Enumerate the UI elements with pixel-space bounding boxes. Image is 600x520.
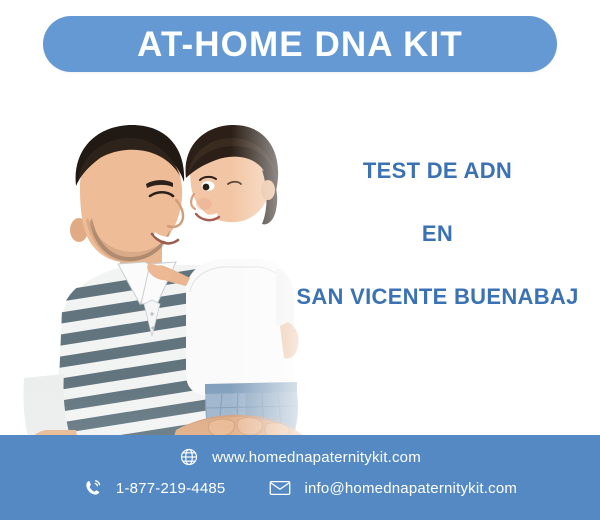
headline-line-2: EN [285, 223, 590, 245]
title-banner: AT-HOME DNA KIT [43, 16, 557, 72]
poster-root: AT-HOME DNA KIT [0, 0, 600, 520]
footer-contact-row: 1-877-219-4485 info@homednapaternitykit.… [0, 478, 600, 498]
headline-line-1: TEST DE ADN [285, 160, 590, 182]
phone-icon [83, 478, 103, 498]
headline-line-3: SAN VICENTE BUENABAJ [285, 286, 590, 308]
footer-bar: www.homednapaternitykit.com 1-877-219-44… [0, 435, 600, 520]
title-banner-text: AT-HOME DNA KIT [137, 27, 463, 62]
footer-email-text[interactable]: info@homednapaternitykit.com [304, 480, 517, 497]
footer-website-text[interactable]: www.homednapaternitykit.com [212, 449, 421, 466]
footer-phone-text[interactable]: 1-877-219-4485 [116, 480, 226, 497]
headline-block: TEST DE ADN EN SAN VICENTE BUENABAJ [285, 160, 590, 308]
envelope-icon [269, 478, 291, 498]
family-photo [0, 78, 330, 456]
globe-icon [179, 447, 199, 467]
footer-website-row: www.homednapaternitykit.com [0, 447, 600, 467]
family-photo-illustration [0, 78, 330, 456]
